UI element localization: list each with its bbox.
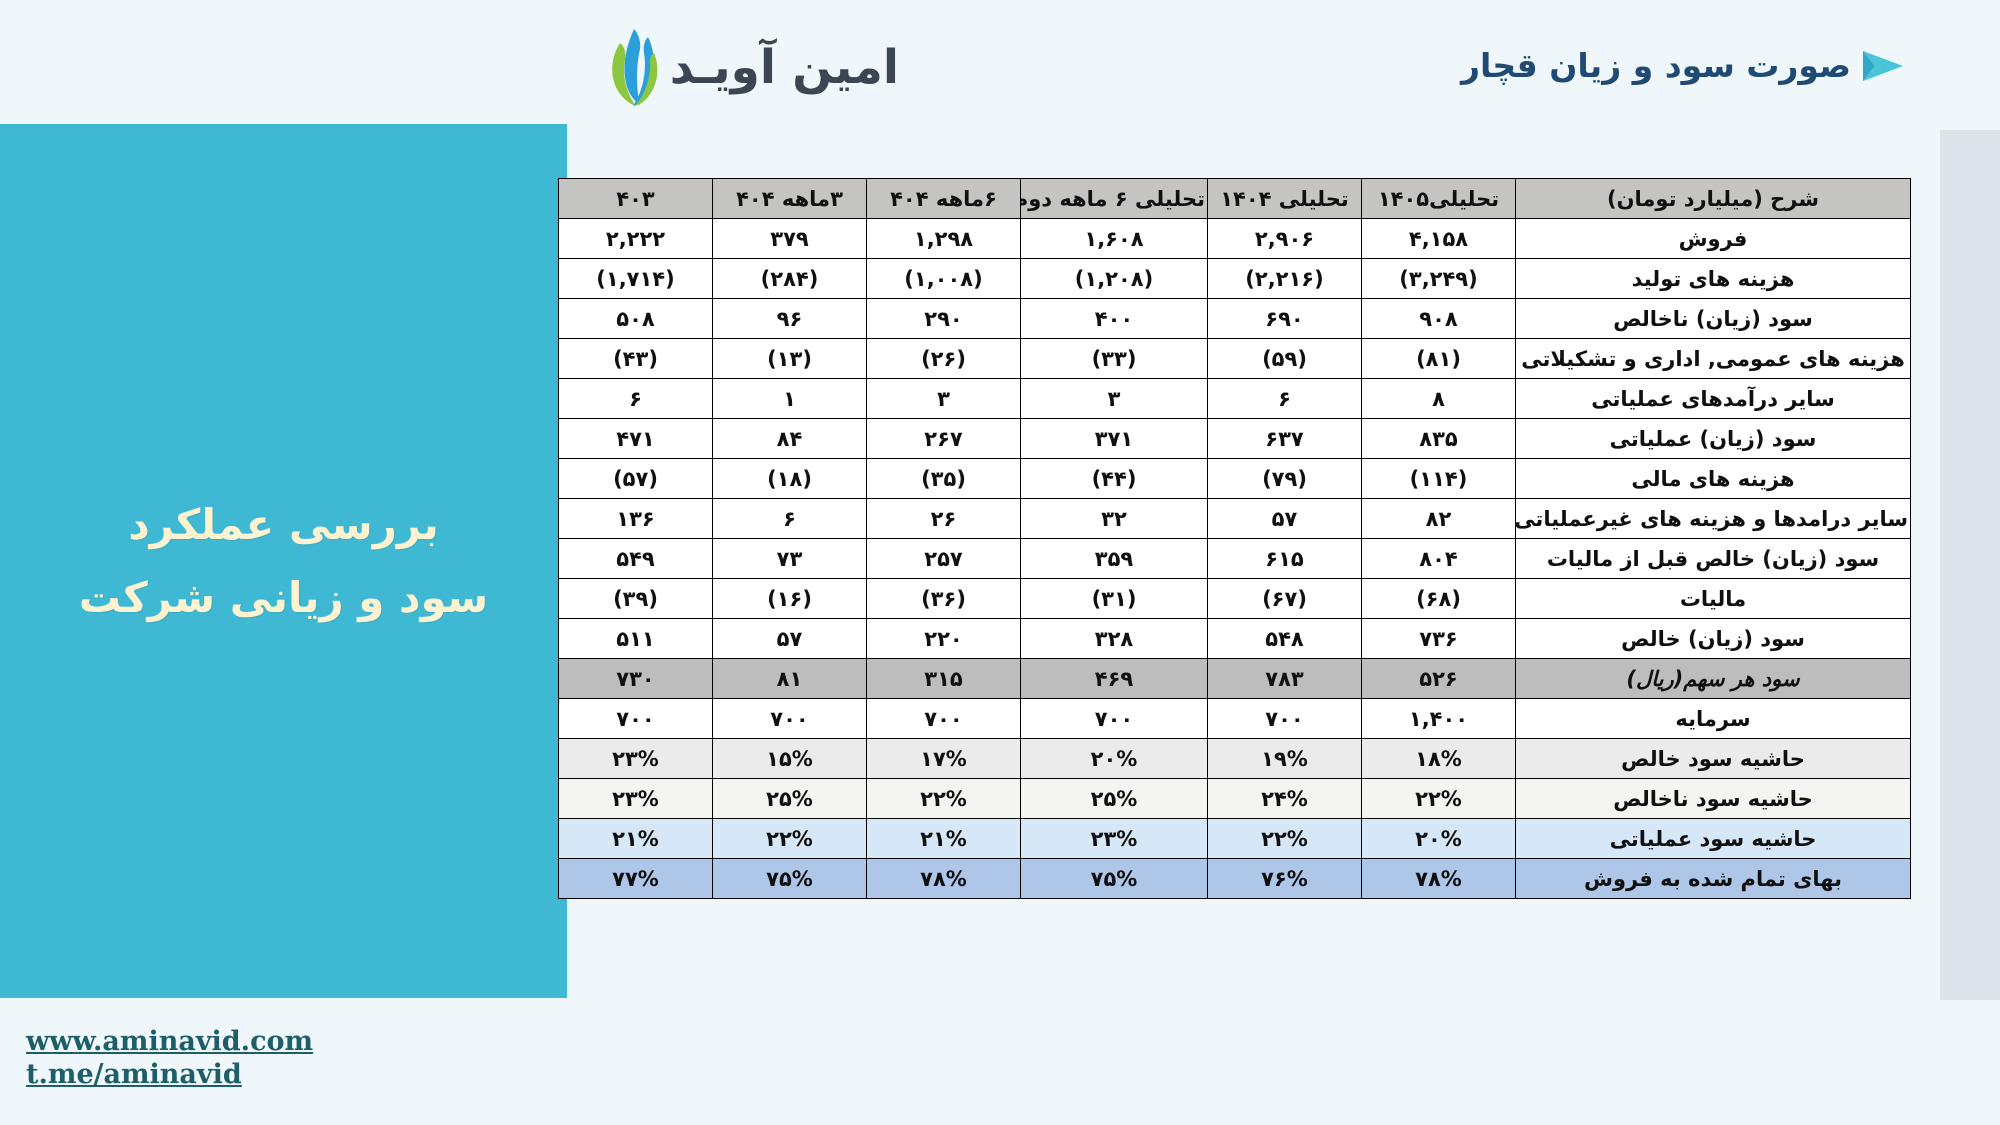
row-label: سود (زیان) خالص قبل از مالیات [1516,539,1911,579]
cell-value: ۳ [1021,379,1208,419]
column-header-description: شرح (میلیارد تومان) [1516,179,1911,219]
column-header-6: ۴۰۳ [559,179,713,219]
cell-value: ۵۴۹ [559,539,713,579]
cell-value: ۷۵% [1021,859,1208,899]
cell-value: ۶ [713,499,867,539]
cell-value: (۳۳) [1021,339,1208,379]
cell-value: ۷۸% [867,859,1021,899]
table-row: سایر درامدها و هزینه های غیرعملیاتی۸۲۵۷۳… [559,499,1911,539]
cell-value: ۲۳% [1021,819,1208,859]
row-label: سایر درامدها و هزینه های غیرعملیاتی [1516,499,1911,539]
cell-value: ۲,۹۰۶ [1208,219,1362,259]
row-label: حاشیه سود ناخالص [1516,779,1911,819]
row-label: فروش [1516,219,1911,259]
cell-value: ۲,۲۲۲ [559,219,713,259]
cell-value: ۸۲ [1362,499,1516,539]
cell-value: ۷۸% [1362,859,1516,899]
cell-value: ۴,۱۵۸ [1362,219,1516,259]
cell-value: (۳۶) [867,579,1021,619]
cell-value: ۷۳ [713,539,867,579]
column-header-4: ۶ماهه ۴۰۴ [867,179,1021,219]
table-row: هزینه های تولید(۳,۲۴۹)(۲,۲۱۶)(۱,۲۰۸)(۱,۰… [559,259,1911,299]
table-row: فروش۴,۱۵۸۲,۹۰۶۱,۶۰۸۱,۲۹۸۳۷۹۲,۲۲۲ [559,219,1911,259]
right-decorative-panel [1940,130,2000,1000]
cell-value: ۸۴ [713,419,867,459]
table-row: حاشیه سود خالص۱۸%۱۹%۲۰%۱۷%۱۵%۲۳% [559,739,1911,779]
cell-value: (۳۹) [559,579,713,619]
cell-value: ۸۰۴ [1362,539,1516,579]
table-row: سود (زیان) خالص قبل از مالیات۸۰۴۶۱۵۳۵۹۲۵… [559,539,1911,579]
cell-value: (۵۹) [1208,339,1362,379]
row-label: هزینه های تولید [1516,259,1911,299]
cell-value: ۷۰۰ [713,699,867,739]
brand-logo: امین آویـد [575,22,905,112]
cell-value: (۴۴) [1021,459,1208,499]
cell-value: ۱۳۶ [559,499,713,539]
cell-value: ۵۷ [713,619,867,659]
cell-value: (۶۸) [1362,579,1516,619]
table-row: حاشیه سود ناخالص۲۲%۲۴%۲۵%۲۲%۲۵%۲۳% [559,779,1911,819]
table-row: هزینه های عمومی, اداری و تشکیلاتی(۸۱)(۵۹… [559,339,1911,379]
cell-value: ۷۳۶ [1362,619,1516,659]
profit-loss-table-wrapper: شرح (میلیارد تومان) تحلیلی۱۴۰۵ تحلیلی ۱۴… [593,178,1911,899]
row-label: مالیات [1516,579,1911,619]
arrow-right-icon [1861,49,1905,83]
page-title-block: صورت سود و زیان قچار [1461,48,1905,84]
cell-value: ۱,۴۰۰ [1362,699,1516,739]
row-label: بهای تمام شده به فروش [1516,859,1911,899]
table-row: سود (زیان) عملیاتی۸۳۵۶۳۷۳۷۱۲۶۷۸۴۴۷۱ [559,419,1911,459]
cell-value: ۶۹۰ [1208,299,1362,339]
table-row: سایر درآمدهای عملیاتی۸۶۳۳۱۶ [559,379,1911,419]
cell-value: (۱,۰۰۸) [867,259,1021,299]
cell-value: ۵۱۱ [559,619,713,659]
cell-value: ۲۵% [1021,779,1208,819]
cell-value: ۶ [559,379,713,419]
row-label: سود (زیان) ناخالص [1516,299,1911,339]
cell-value: ۳۵۹ [1021,539,1208,579]
cell-value: ۶۳۷ [1208,419,1362,459]
cell-value: (۱۳) [713,339,867,379]
cell-value: ۲۲% [713,819,867,859]
cell-value: ۲۳% [559,779,713,819]
cell-value: ۹۶ [713,299,867,339]
cell-value: ۳۲۸ [1021,619,1208,659]
row-label: هزینه های مالی [1516,459,1911,499]
row-label: سود (زیان) خالص [1516,619,1911,659]
cell-value: ۳ [867,379,1021,419]
cell-value: ۱۹% [1208,739,1362,779]
cell-value: (۵۷) [559,459,713,499]
leaf-droplet-icon [596,27,670,107]
cell-value: (۷۹) [1208,459,1362,499]
table-row: سود (زیان) خالص۷۳۶۵۴۸۳۲۸۲۲۰۵۷۵۱۱ [559,619,1911,659]
row-label: سرمایه [1516,699,1911,739]
table-row: مالیات(۶۸)(۶۷)(۳۱)(۳۶)(۱۶)(۳۹) [559,579,1911,619]
cell-value: ۵۲۶ [1362,659,1516,699]
cell-value: ۴۷۱ [559,419,713,459]
page-title: صورت سود و زیان قچار [1461,48,1851,84]
cell-value: (۸۱) [1362,339,1516,379]
cell-value: ۴۶۹ [1021,659,1208,699]
cell-value: ۷۵% [713,859,867,899]
cell-value: (۳,۲۴۹) [1362,259,1516,299]
cell-value: ۷۰۰ [867,699,1021,739]
cell-value: ۱۵% [713,739,867,779]
table-row: سرمایه۱,۴۰۰۷۰۰۷۰۰۷۰۰۷۰۰۷۰۰ [559,699,1911,739]
cell-value: ۲۲% [1362,779,1516,819]
cell-value: (۱۱۴) [1362,459,1516,499]
column-header-3: تحلیلی ۶ ماهه دوم ۴۰۴ [1021,179,1208,219]
row-label: حاشیه سود عملیاتی [1516,819,1911,859]
cell-value: ۷۰۰ [1021,699,1208,739]
website-link[interactable]: www.aminavid.com [26,1026,313,1059]
cell-value: ۷۷% [559,859,713,899]
row-label: سایر درآمدهای عملیاتی [1516,379,1911,419]
cell-value: ۱۸% [1362,739,1516,779]
footer-links: www.aminavid.com t.me/aminavid [26,1026,313,1092]
cell-value: ۸ [1362,379,1516,419]
cell-value: ۶ [1208,379,1362,419]
page-header: امین آویـد صورت سود و زیان قچار [0,0,2000,124]
row-label: حاشیه سود خالص [1516,739,1911,779]
cell-value: ۳۱۵ [867,659,1021,699]
cell-value: (۶۷) [1208,579,1362,619]
cell-value: ۵۰۸ [559,299,713,339]
cell-value: (۱۸) [713,459,867,499]
row-label: هزینه های عمومی, اداری و تشکیلاتی [1516,339,1911,379]
cell-value: ۸۱ [713,659,867,699]
table-row: هزینه های مالی(۱۱۴)(۷۹)(۴۴)(۳۵)(۱۸)(۵۷) [559,459,1911,499]
cell-value: (۱,۷۱۴) [559,259,713,299]
table-row: بهای تمام شده به فروش۷۸%۷۶%۷۵%۷۸%۷۵%۷۷% [559,859,1911,899]
brand-logo-text: امین آویـد [670,44,899,91]
cell-value: ۲۵۷ [867,539,1021,579]
row-label: سود (زیان) عملیاتی [1516,419,1911,459]
cell-value: ۲۰% [1021,739,1208,779]
sidebar-heading-line-2: سود و زیانی شرکت [79,561,488,635]
cell-value: (۳۵) [867,459,1021,499]
cell-value: ۳۲ [1021,499,1208,539]
cell-value: ۲۱% [867,819,1021,859]
cell-value: ۲۴% [1208,779,1362,819]
table-header-row: شرح (میلیارد تومان) تحلیلی۱۴۰۵ تحلیلی ۱۴… [559,179,1911,219]
cell-value: ۲۹۰ [867,299,1021,339]
cell-value: (۲۸۴) [713,259,867,299]
cell-value: ۷۸۳ [1208,659,1362,699]
cell-value: ۴۰۰ [1021,299,1208,339]
table-row: سود (زیان) ناخالص۹۰۸۶۹۰۴۰۰۲۹۰۹۶۵۰۸ [559,299,1911,339]
cell-value: ۷۶% [1208,859,1362,899]
profit-loss-table: شرح (میلیارد تومان) تحلیلی۱۴۰۵ تحلیلی ۱۴… [558,178,1911,899]
table-row: سود هر سهم(ریال)۵۲۶۷۸۳۴۶۹۳۱۵۸۱۷۳۰ [559,659,1911,699]
cell-value: ۲۵% [713,779,867,819]
cell-value: ۱۷% [867,739,1021,779]
cell-value: ۱,۶۰۸ [1021,219,1208,259]
cell-value: (۴۳) [559,339,713,379]
cell-value: ۲۲% [867,779,1021,819]
cell-value: ۱,۲۹۸ [867,219,1021,259]
table-row: حاشیه سود عملیاتی۲۰%۲۲%۲۳%۲۱%۲۲%۲۱% [559,819,1911,859]
sidebar-heading: بررسی عملکرد سود و زیانی شرکت [39,488,528,635]
sidebar-heading-line-1: بررسی عملکرد [79,488,488,562]
cell-value: ۷۰۰ [1208,699,1362,739]
cell-value: ۲۶۷ [867,419,1021,459]
cell-value: (۲۶) [867,339,1021,379]
cell-value: ۷۳۰ [559,659,713,699]
column-header-5: ۳ماهه ۴۰۴ [713,179,867,219]
cell-value: (۳۱) [1021,579,1208,619]
column-header-2: تحلیلی ۱۴۰۴ [1208,179,1362,219]
telegram-link[interactable]: t.me/aminavid [26,1059,313,1092]
cell-value: ۸۳۵ [1362,419,1516,459]
cell-value: ۲۲% [1208,819,1362,859]
cell-value: ۲۶ [867,499,1021,539]
table-body: فروش۴,۱۵۸۲,۹۰۶۱,۶۰۸۱,۲۹۸۳۷۹۲,۲۲۲هزینه ها… [559,219,1911,899]
cell-value: (۱,۲۰۸) [1021,259,1208,299]
cell-value: ۵۴۸ [1208,619,1362,659]
cell-value: ۱ [713,379,867,419]
cell-value: ۳۷۹ [713,219,867,259]
column-header-1: تحلیلی۱۴۰۵ [1362,179,1516,219]
cell-value: (۱۶) [713,579,867,619]
cell-value: ۳۷۱ [1021,419,1208,459]
cell-value: ۲۳% [559,739,713,779]
row-label: سود هر سهم(ریال) [1516,659,1911,699]
left-accent-panel: بررسی عملکرد سود و زیانی شرکت [0,124,567,998]
cell-value: ۹۰۸ [1362,299,1516,339]
cell-value: (۲,۲۱۶) [1208,259,1362,299]
cell-value: ۲۲۰ [867,619,1021,659]
cell-value: ۷۰۰ [559,699,713,739]
cell-value: ۲۱% [559,819,713,859]
cell-value: ۶۱۵ [1208,539,1362,579]
cell-value: ۵۷ [1208,499,1362,539]
cell-value: ۲۰% [1362,819,1516,859]
